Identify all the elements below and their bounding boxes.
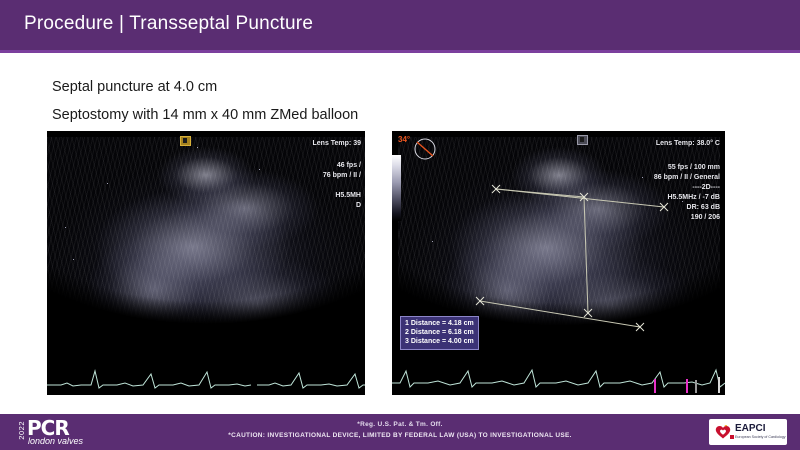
- bullet-item: Septostomy with 14 mm x 40 mm ZMed ballo…: [52, 108, 612, 123]
- ultrasound-sector-left: [47, 137, 365, 375]
- footer-caution-block: *Reg. U.S. Pat. & Tm. Off. *CAUTION: INV…: [0, 419, 800, 441]
- speckle-dot: [197, 147, 198, 148]
- lens-temp-readout: Lens Temp: 39: [313, 139, 362, 149]
- grayscale-bar: [392, 155, 401, 221]
- probe-freq-readout: H5.5MH: [335, 191, 361, 201]
- orientation-marker-icon: [180, 136, 191, 146]
- frame-counter-readout: 190 / 206: [691, 213, 720, 223]
- ecg-event-marker: [718, 377, 720, 393]
- eapci-name: EAPCI: [735, 424, 766, 434]
- ecg-trace-right: [392, 361, 725, 395]
- fps-readout: 46 fps /: [337, 161, 361, 171]
- ecg-trace-left: [47, 361, 365, 395]
- speckle-dot: [432, 241, 433, 242]
- probe-angle-indicator: 34°: [398, 135, 444, 161]
- slide-root: Procedure | Transseptal Puncture Septal …: [0, 0, 800, 450]
- dynamic-range-readout: DR: 63 dB: [687, 203, 720, 213]
- ecg-event-marker: [686, 379, 688, 393]
- distance-measurement-box: 1 Distance = 4.18 cm 2 Distance = 6.18 c…: [400, 316, 479, 350]
- orientation-marker-icon: [577, 135, 588, 145]
- header-accent-bar: [0, 50, 800, 53]
- esc-mark-icon: [730, 435, 734, 439]
- bpm-readout: 76 bpm / II /: [323, 171, 361, 181]
- bullet-item: Septal puncture at 4.0 cm: [52, 80, 612, 95]
- measurement-row: 1 Distance = 4.18 cm: [405, 319, 474, 328]
- ecg-event-marker: [695, 380, 697, 393]
- speckle-dot: [642, 177, 643, 178]
- bpm-readout: 86 bpm / II / General: [654, 173, 720, 183]
- ecg-event-marker: [654, 379, 656, 393]
- speckle-dot: [259, 169, 260, 170]
- probe-angle-label: 34°: [398, 135, 410, 144]
- heart-icon: [715, 424, 731, 440]
- lens-temp-readout: Lens Temp: 38.0° C: [656, 139, 720, 149]
- bullet-list: Septal puncture at 4.0 cm Septostomy wit…: [52, 80, 612, 135]
- measurement-row: 3 Distance = 4.00 cm: [405, 337, 474, 346]
- eapci-subtitle: European Society of Cardiology: [735, 435, 786, 440]
- trademark-notice: *Reg. U.S. Pat. & Tm. Off.: [0, 419, 800, 430]
- probe-freq-readout: H5.5MHz / -7 dB: [667, 193, 720, 203]
- measurement-row: 2 Distance = 6.18 cm: [405, 328, 474, 337]
- page-title: Procedure | Transseptal Puncture: [24, 13, 313, 35]
- caution-notice: *CAUTION: INVESTIGATIONAL DEVICE, LIMITE…: [0, 430, 800, 441]
- dynamic-range-readout: D: [356, 201, 361, 211]
- speckle-dot: [65, 227, 66, 228]
- echo-image-left[interactable]: Lens Temp: 39 46 fps / 76 bpm / II / H5.…: [47, 131, 365, 395]
- speckle-dot: [73, 259, 74, 260]
- eapci-logo: EAPCI European Society of Cardiology: [709, 419, 787, 445]
- echo-image-right[interactable]: 34° Lens Temp: 38.0° C 55 fps / 100 mm 8…: [392, 131, 725, 395]
- fps-readout: 55 fps / 100 mm: [668, 163, 720, 173]
- speckle-dot: [107, 183, 108, 184]
- mode-readout: ----2D----: [692, 183, 720, 193]
